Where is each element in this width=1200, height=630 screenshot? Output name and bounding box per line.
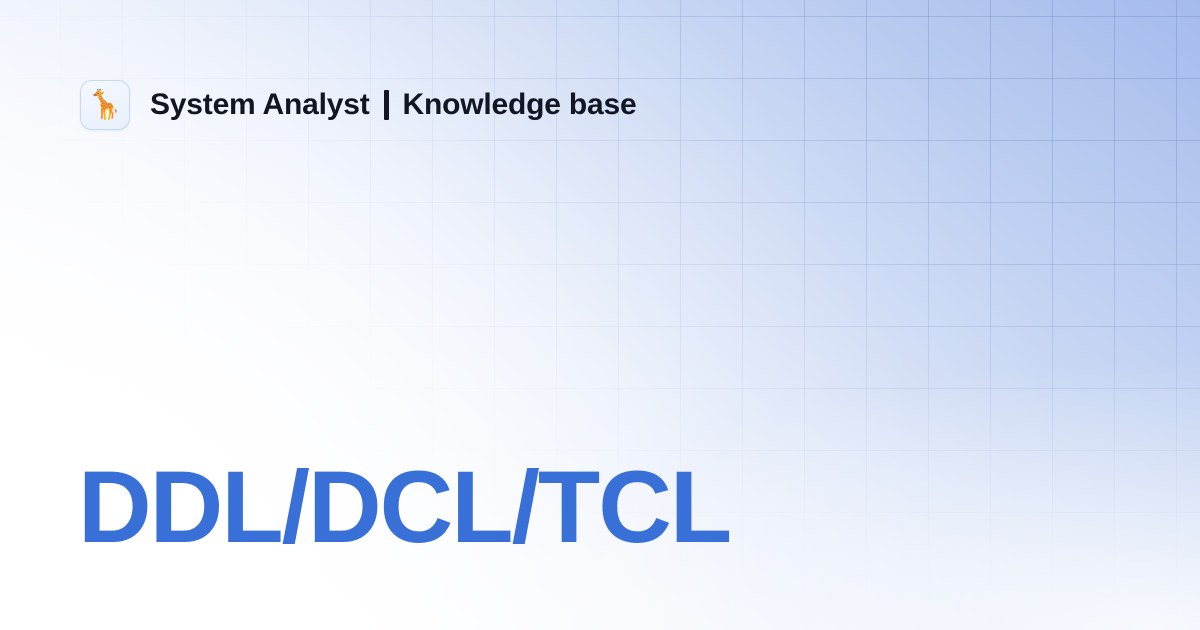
brand-title-right: Knowledge base <box>403 88 637 122</box>
brand-title: System Analyst Knowledge base <box>150 88 636 122</box>
brand-title-left: System Analyst <box>150 88 370 122</box>
page-title: DDL/DCL/TCL <box>78 456 730 558</box>
og-card: 🦒 System Analyst Knowledge base DDL/DCL/… <box>0 0 1200 630</box>
brand-title-separator <box>384 90 389 120</box>
giraffe-emoji-glyph: 🦒 <box>88 91 123 119</box>
giraffe-icon: 🦒 <box>80 80 130 130</box>
brand-header: 🦒 System Analyst Knowledge base <box>80 80 636 130</box>
